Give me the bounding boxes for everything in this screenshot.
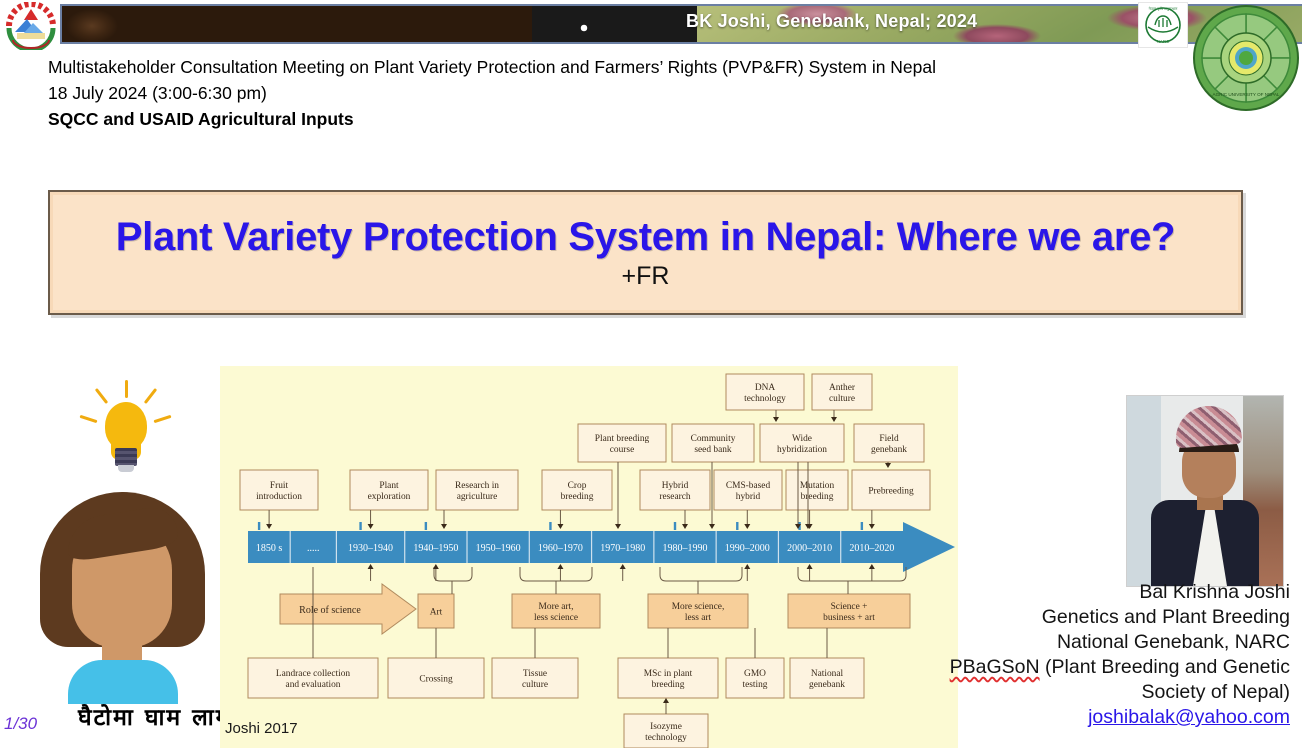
bracket-art <box>434 567 472 581</box>
svg-text:Field: Field <box>879 434 899 444</box>
svg-text:and evaluation: and evaluation <box>286 680 341 690</box>
timeline-period-label: 1950–1960 <box>476 543 521 554</box>
arrow-head <box>709 524 715 529</box>
diagram-box-crossing: Crossing <box>388 658 484 698</box>
diagram-box-cms-based-hybrid: CMS-basedhybrid <box>714 470 782 510</box>
svg-text:Anther: Anther <box>829 383 856 393</box>
role-of-science-arrow: Role of science <box>280 584 416 634</box>
lightbulb-idea-icon <box>83 380 163 490</box>
bulb-tip <box>118 465 134 472</box>
breeding-timeline-diagram: 1850 s.....1930–19401940–19501950–196019… <box>220 366 958 748</box>
svg-text:hybrid: hybrid <box>736 492 761 502</box>
author-society-name: (Plant Breeding and Genetic <box>1040 656 1290 678</box>
diagram-box-plant-breeding-course: Plant breedingcourse <box>578 424 666 462</box>
decade-tick <box>359 522 361 530</box>
diagram-box-crop-breeding: Cropbreeding <box>542 470 612 510</box>
svg-text:GMO: GMO <box>744 669 766 679</box>
diagram-box-more-science-less-art: More science,less art <box>648 594 748 628</box>
diagram-box-mutation-breeding: Mutationbreeding <box>786 470 848 510</box>
svg-text:Crop: Crop <box>568 481 587 491</box>
banner-title: BK Joshi, Genebank, Nepal; 2024 <box>686 11 977 32</box>
author-name: Bal Krishna Joshi <box>940 580 1290 605</box>
timeline-period-label: 1930–1940 <box>348 543 393 554</box>
bulb-ray <box>153 415 171 423</box>
meeting-organizer-line: SQCC and USAID Agricultural Inputs <box>48 106 1108 132</box>
timeline-arrow-head <box>903 522 955 572</box>
diagram-box-more-art-less-science: More art,less science <box>512 594 600 628</box>
svg-text:CMS-based: CMS-based <box>726 481 771 491</box>
diagram-box-national-genebank: Nationalgenebank <box>790 658 864 698</box>
timeline-period-label: 2000–2010 <box>787 543 832 554</box>
svg-text:Mutation: Mutation <box>800 481 835 491</box>
diagram-box-msc-in-plant-breeding: MSc in plantbreeding <box>618 658 718 698</box>
svg-text:agriculture: agriculture <box>457 492 498 502</box>
arrow-head <box>557 524 563 529</box>
person-avatar-icon <box>25 380 220 690</box>
avatar-shirt <box>68 660 178 704</box>
diagram-box-isozyme-technology: Isozymetechnology <box>624 714 708 748</box>
avatar-head <box>40 492 205 692</box>
author-institute: National Genebank, NARC <box>940 630 1290 655</box>
diagram-box-research-in-agriculture: Research inagriculture <box>436 470 518 510</box>
diagram-box-science-business-art: Science +business + art <box>788 594 910 628</box>
svg-text:business + art: business + art <box>823 613 875 623</box>
svg-text:introduction: introduction <box>256 492 302 502</box>
header-banner: BK Joshi, Genebank, Nepal; 2024 NARC नेप… <box>0 0 1302 48</box>
slide-number: 1/30 <box>4 714 37 734</box>
svg-text:Role of science: Role of science <box>299 605 361 616</box>
svg-text:less art: less art <box>685 613 712 623</box>
svg-text:less science: less science <box>534 613 578 623</box>
svg-text:breeding: breeding <box>561 492 594 502</box>
bracket-more-science <box>660 567 742 581</box>
decade-tick <box>736 522 738 530</box>
diagram-credit: Joshi 2017 <box>225 720 298 737</box>
arrow-head <box>433 564 439 569</box>
svg-text:Landrace collection: Landrace collection <box>276 669 350 679</box>
timeline-period-label: 1850 s <box>256 543 283 554</box>
bulb-base <box>115 448 137 466</box>
svg-text:technology: technology <box>744 394 786 404</box>
diagram-box-tissue-culture: Tissueculture <box>492 658 578 698</box>
diagram-box-hybrid-research: Hybridresearch <box>640 470 710 510</box>
bracket-science-business <box>798 567 906 581</box>
svg-text:technology: technology <box>645 733 687 743</box>
beans-photo <box>62 6 532 42</box>
diagram-box-art: Art <box>418 594 454 628</box>
arrow-head <box>663 698 669 703</box>
arrow-head <box>615 524 621 529</box>
svg-text:Science +: Science + <box>831 602 868 612</box>
header-image-strip <box>60 4 1302 44</box>
bracket-more-art <box>520 567 592 581</box>
svg-text:Art: Art <box>430 607 443 617</box>
diagram-box-community-seed-bank: Communityseed bank <box>672 424 754 462</box>
bal-krishna-joshi-portrait <box>1126 395 1284 587</box>
author-society-line2: Society of Nepal) <box>940 680 1290 705</box>
arrow-head <box>744 524 750 529</box>
svg-text:AGRIC UNIVERSITY OF NEPAL: AGRIC UNIVERSITY OF NEPAL <box>1213 92 1280 97</box>
arrow-head <box>773 417 779 422</box>
timeline-period-label: 1980–1990 <box>663 543 708 554</box>
svg-text:नेपाल कृषि अनुसन्धान: नेपाल कृषि अनुसन्धान <box>1149 6 1179 11</box>
diagram-box-dna-technology: DNAtechnology <box>726 374 804 410</box>
fish-photo <box>532 6 697 42</box>
agriculture-university-nepal-logo: AGRIC UNIVERSITY OF NEPAL <box>1192 4 1300 112</box>
arrow-head <box>620 564 626 569</box>
diagram-box-prebreeding: Prebreeding <box>852 470 930 510</box>
page-title: Plant Variety Protection System in Nepal… <box>116 215 1175 260</box>
svg-text:Plant: Plant <box>379 481 399 491</box>
svg-text:breeding: breeding <box>801 492 834 502</box>
timeline-period-label: 1940–1950 <box>413 543 458 554</box>
timeline-diagram-svg: 1850 s.....1930–19401940–19501950–196019… <box>220 366 958 748</box>
svg-text:research: research <box>659 492 691 502</box>
arrow-head <box>368 524 374 529</box>
bulb-glass <box>105 402 147 450</box>
arrow-head <box>807 564 813 569</box>
svg-text:Fruit: Fruit <box>270 481 289 491</box>
decade-tick <box>674 522 676 530</box>
arrow-head <box>557 564 563 569</box>
bulb-ray <box>95 388 108 404</box>
svg-text:Prebreeding: Prebreeding <box>868 486 914 496</box>
svg-text:National: National <box>811 669 844 679</box>
diagram-box-plant-exploration: Plantexploration <box>350 470 428 510</box>
arrow-head <box>744 564 750 569</box>
arrow-head <box>682 524 688 529</box>
svg-text:Plant breeding: Plant breeding <box>595 434 650 444</box>
author-discipline: Genetics and Plant Breeding <box>940 605 1290 630</box>
svg-text:Tissue: Tissue <box>523 669 547 679</box>
svg-text:seed bank: seed bank <box>694 445 732 455</box>
arrow-head <box>368 564 374 569</box>
diagram-box-anther-culture: Antherculture <box>812 374 872 410</box>
svg-text:culture: culture <box>829 394 855 404</box>
meeting-info: Multistakeholder Consultation Meeting on… <box>48 54 1108 132</box>
arrow-head <box>831 417 837 422</box>
timeline-bar: 1850 s.....1930–19401940–19501950–196019… <box>248 531 903 563</box>
svg-text:MSc in plant: MSc in plant <box>644 669 693 679</box>
svg-text:More art,: More art, <box>539 602 574 612</box>
timeline-period-label: 1990–2000 <box>725 543 770 554</box>
decade-tick <box>861 522 863 530</box>
decade-tick <box>425 522 427 530</box>
svg-text:DNA: DNA <box>755 383 776 393</box>
svg-text:genebank: genebank <box>809 680 845 690</box>
svg-text:course: course <box>610 445 634 455</box>
author-society-acronym: PBaGSoN <box>950 656 1040 678</box>
bulb-ray <box>144 388 157 404</box>
diagram-box-fruit-introduction: Fruitintroduction <box>240 470 318 510</box>
svg-text:NARC: NARC <box>1157 39 1171 44</box>
timeline-period-label: 1970–1980 <box>600 543 645 554</box>
arrow-head <box>441 524 447 529</box>
svg-text:Hybrid: Hybrid <box>662 481 689 491</box>
slide-title-box: Plant Variety Protection System in Nepal… <box>48 190 1243 315</box>
author-society: PBaGSoN (Plant Breeding and Genetic <box>940 655 1290 680</box>
arrow-head <box>869 564 875 569</box>
diagram-box-landrace-collection-and-evaluation: Landrace collectionand evaluation <box>248 658 378 698</box>
svg-text:culture: culture <box>522 680 548 690</box>
svg-text:More science,: More science, <box>672 602 725 612</box>
nepal-government-emblem <box>3 2 59 50</box>
timeline-period-label: 2010–2020 <box>849 543 894 554</box>
svg-text:exploration: exploration <box>368 492 411 502</box>
svg-text:Community: Community <box>691 434 736 444</box>
svg-text:Isozyme: Isozyme <box>650 722 682 732</box>
diagram-box-wide-hybridization: Widehybridization <box>760 424 844 462</box>
diagram-box-field-genebank: Fieldgenebank <box>854 424 924 462</box>
bulb-ray <box>125 380 128 398</box>
decade-tick <box>549 522 551 530</box>
meeting-date-line: 18 July 2024 (3:00-6:30 pm) <box>48 80 1108 106</box>
svg-text:testing: testing <box>743 680 768 690</box>
author-details: Bal Krishna Joshi Genetics and Plant Bre… <box>940 580 1290 730</box>
narc-logo: NARC नेपाल कृषि अनुसन्धान <box>1138 2 1188 48</box>
svg-text:genebank: genebank <box>871 445 907 455</box>
svg-text:breeding: breeding <box>652 680 685 690</box>
page-subtitle: +FR <box>622 262 670 291</box>
decade-tick <box>258 522 260 530</box>
arrow-head <box>869 524 875 529</box>
diagram-box-gmo-testing: GMOtesting <box>726 658 784 698</box>
svg-text:Research in: Research in <box>455 481 499 491</box>
svg-text:hybridization: hybridization <box>777 445 827 455</box>
svg-text:Crossing: Crossing <box>419 674 453 684</box>
svg-text:Wide: Wide <box>792 434 812 444</box>
meeting-title-line: Multistakeholder Consultation Meeting on… <box>48 54 1108 80</box>
arrow-head <box>266 524 272 529</box>
author-email-link[interactable]: joshibalak@yahoo.com <box>940 705 1290 730</box>
timeline-period-label: ..... <box>307 543 320 554</box>
arrow-head <box>885 463 891 468</box>
timeline-period-label: 1960–1970 <box>538 543 583 554</box>
bulb-ray <box>79 415 97 423</box>
